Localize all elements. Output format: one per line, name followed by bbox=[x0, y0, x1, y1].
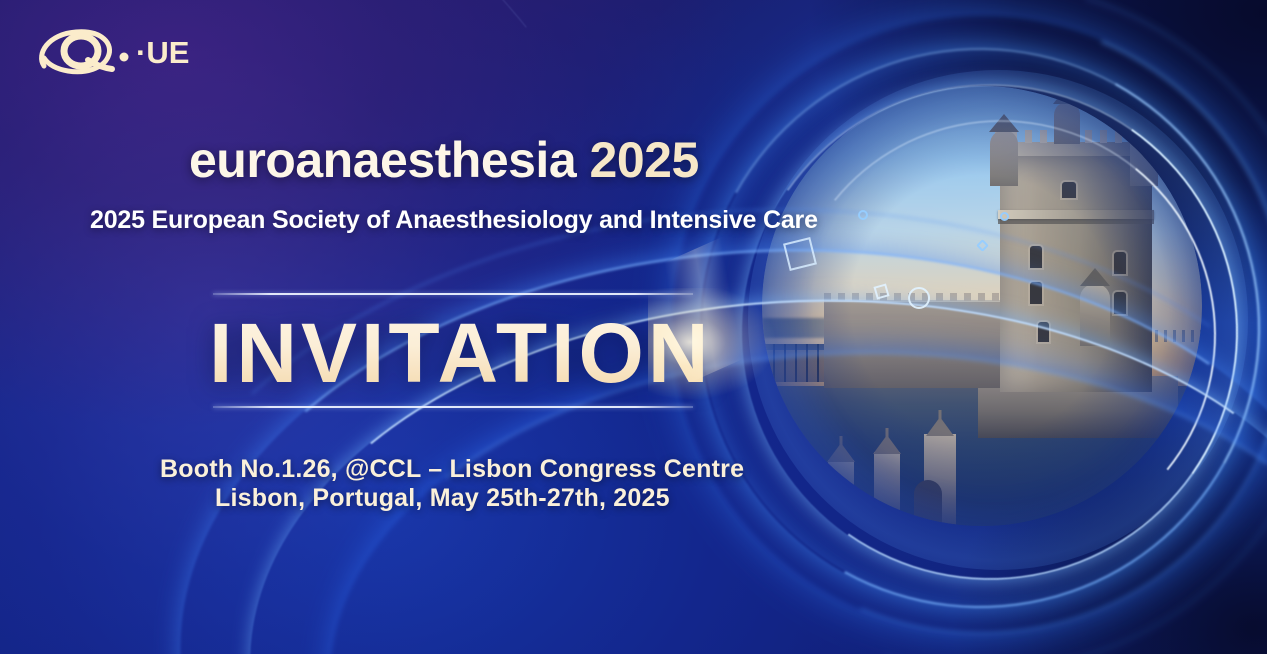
oue-logo[interactable]: ·UE bbox=[34, 24, 194, 80]
divider-bottom bbox=[213, 406, 693, 408]
event-title-year: 2025 bbox=[590, 132, 699, 188]
venue-line-2: Lisbon, Portugal, May 25th-27th, 2025 bbox=[215, 484, 670, 513]
event-subtitle: 2025 European Society of Anaesthesiology… bbox=[90, 206, 818, 235]
event-title: euroanaesthesia 2025 bbox=[189, 131, 699, 189]
venue-line-1: Booth No.1.26, @CCL – Lisbon Congress Ce… bbox=[160, 455, 744, 484]
oue-wordmark: ·UE bbox=[136, 35, 189, 71]
invitation-headline: INVITATION bbox=[209, 305, 713, 402]
event-title-main: euroanaesthesia bbox=[189, 132, 576, 188]
invitation-banner: ·UE euroanaesthesia 2025 2025 European S… bbox=[0, 0, 1267, 654]
divider-top bbox=[213, 293, 693, 295]
